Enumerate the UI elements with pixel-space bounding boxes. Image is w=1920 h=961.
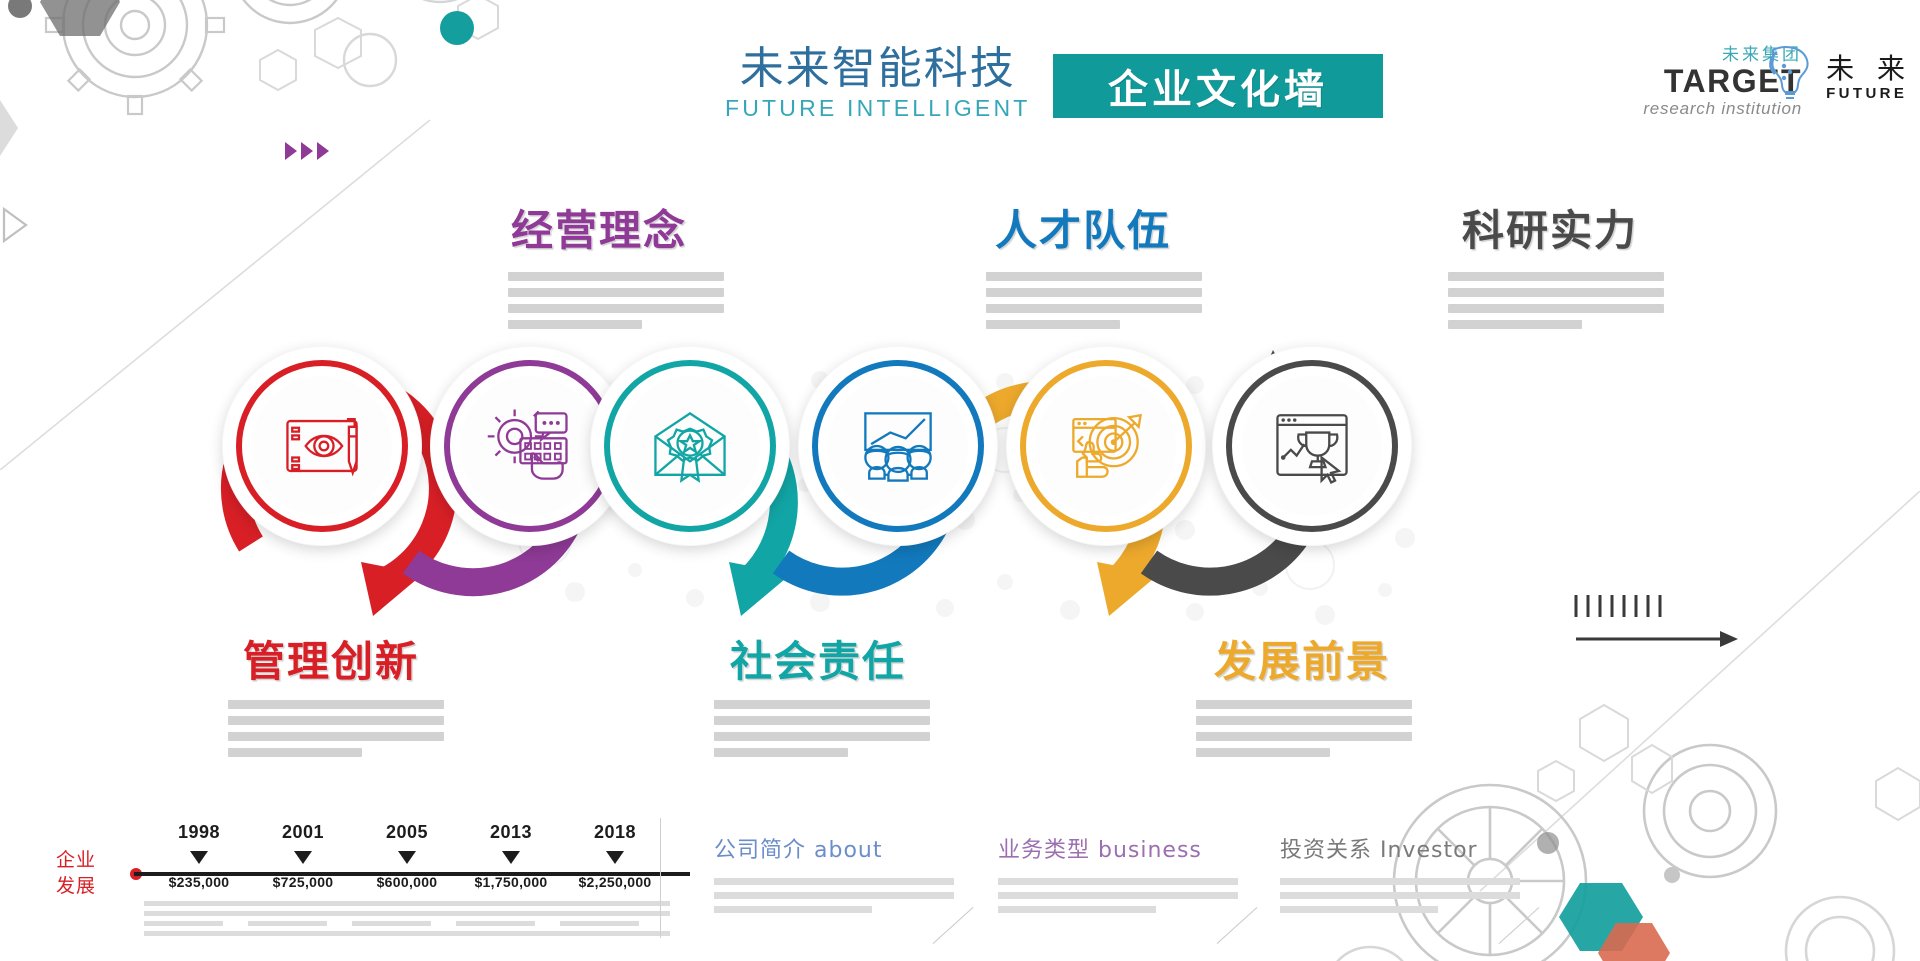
section-text-lines-social-responsibility — [714, 700, 930, 764]
page-header: 未来智能科技 FUTURE INTELLIGENT 企业文化墙 未来集团 TAR… — [0, 0, 1920, 150]
brand-name-cn: 未来智能科技 — [725, 46, 1031, 93]
node-management-innovation[interactable] — [222, 346, 422, 546]
timeline-tick-icon — [502, 851, 520, 864]
bottom-link-investor[interactable]: 投资关系 Investor — [1280, 832, 1520, 920]
timeline-item[interactable]: 1998 $235,000 — [144, 822, 254, 941]
timeline-text-lines — [456, 901, 566, 936]
page-title: 企业文化墙 — [1108, 57, 1328, 115]
bottom-link-business[interactable]: 业务类型 business — [998, 832, 1238, 920]
section-text-lines-research-strength — [1448, 272, 1664, 336]
section-title-business-philosophy: 经营理念 — [511, 197, 687, 258]
gear-keyboard-hand-icon — [482, 398, 578, 494]
bottom-link-about[interactable]: 公司简介 about — [714, 832, 954, 920]
section-divider — [660, 818, 661, 938]
logomark-block: 未 来 FUTURE — [1765, 44, 1912, 104]
timeline-text-lines — [248, 901, 358, 936]
bottom-link-text-lines — [1280, 878, 1520, 913]
logomark-name-en: FUTURE — [1826, 85, 1912, 102]
logomark-name-cn: 未 来 — [1826, 47, 1912, 87]
bottom-link-label: 投资关系 Investor — [1280, 832, 1520, 864]
envelope-award-icon — [642, 398, 738, 494]
timeline-tick-icon — [190, 851, 208, 864]
timeline-tick-icon — [606, 851, 624, 864]
timeline-label: 企业 发展 — [56, 848, 122, 899]
timeline-label-line1: 企业 — [56, 848, 122, 874]
timeline-item[interactable]: 2013 $1,750,000 — [456, 822, 566, 941]
page-title-badge: 企业文化墙 — [1053, 54, 1383, 118]
trophy-chart-cursor-icon — [1264, 398, 1360, 494]
section-text-lines-management-innovation — [228, 700, 444, 764]
bottom-link-text-lines — [714, 878, 954, 913]
bottom-link-text-lines — [998, 878, 1238, 913]
timeline-year: 2018 — [560, 822, 670, 843]
bottom-link-label: 业务类型 business — [998, 832, 1238, 864]
section-text-lines-development-prospects — [1196, 700, 1412, 764]
section-title-management-innovation: 管理创新 — [243, 628, 419, 689]
node-development-prospects[interactable] — [1006, 346, 1206, 546]
chevron-outline-icon — [0, 205, 40, 245]
timeline-amount: $725,000 — [248, 874, 358, 890]
brand-name-en: FUTURE INTELLIGENT — [725, 95, 1031, 122]
brand-block: 未来智能科技 FUTURE INTELLIGENT — [725, 46, 1031, 122]
timeline-item[interactable]: 2001 $725,000 — [248, 822, 358, 941]
section-title-social-responsibility: 社会责任 — [730, 628, 906, 689]
tablet-eye-stylus-icon — [274, 398, 370, 494]
section-title-talent-team: 人才队伍 — [995, 197, 1171, 258]
section-text-lines-talent-team — [986, 272, 1202, 336]
company-development-timeline: 企业 发展 1998 $235,000 2001 $725,000 2005 $… — [56, 822, 696, 942]
timeline-year: 1998 — [144, 822, 254, 843]
decorative-slash — [1499, 907, 1540, 944]
bottom-link-label: 公司简介 about — [714, 832, 954, 864]
section-text-lines-business-philosophy — [508, 272, 724, 336]
node-research-strength[interactable] — [1212, 346, 1412, 546]
target-thumbsup-icon — [1058, 398, 1154, 494]
section-title-development-prospects: 发展前景 — [1214, 628, 1390, 689]
timeline-tick-icon — [398, 851, 416, 864]
lightbulb-idea-icon — [1765, 44, 1817, 104]
timeline-item[interactable]: 2005 $600,000 — [352, 822, 462, 941]
timeline-item[interactable]: 2018 $2,250,000 — [560, 822, 670, 941]
timeline-year: 2001 — [248, 822, 358, 843]
team-presentation-icon — [850, 398, 946, 494]
timeline-label-line2: 发展 — [56, 874, 122, 900]
node-talent-team[interactable] — [798, 346, 998, 546]
progress-arrow-icon — [1570, 591, 1740, 661]
timeline-year: 2013 — [456, 822, 566, 843]
timeline-text-lines — [352, 901, 462, 936]
decorative-slash — [933, 907, 974, 944]
node-social-responsibility[interactable] — [590, 346, 790, 546]
timeline-amount: $600,000 — [352, 874, 462, 890]
decorative-slash — [1217, 907, 1258, 944]
timeline-tick-icon — [294, 851, 312, 864]
timeline-year: 2005 — [352, 822, 462, 843]
timeline-amount: $235,000 — [144, 874, 254, 890]
section-title-research-strength: 科研实力 — [1462, 197, 1638, 258]
timeline-amount: $1,750,000 — [456, 874, 566, 890]
timeline-text-lines — [560, 901, 670, 936]
timeline-amount: $2,250,000 — [560, 874, 670, 890]
timeline-text-lines — [144, 901, 254, 936]
